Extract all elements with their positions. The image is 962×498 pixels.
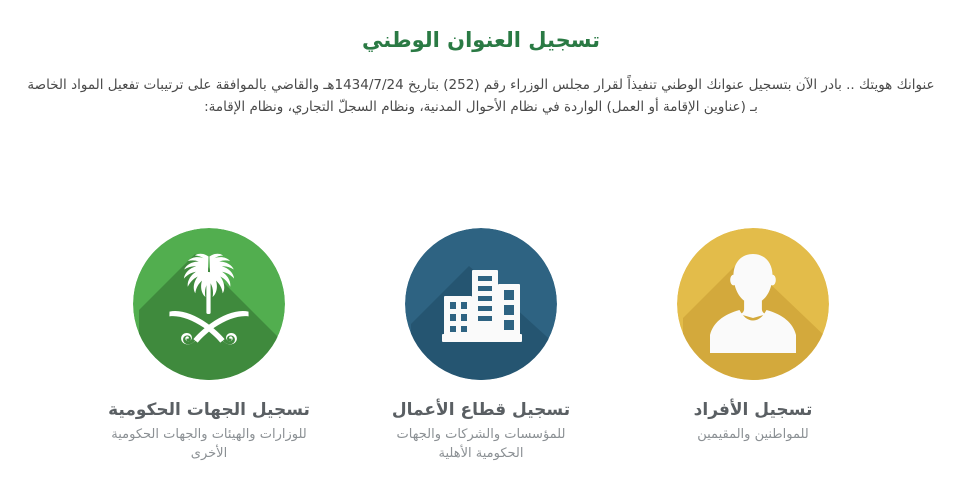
office-buildings-icon[interactable] xyxy=(405,228,557,380)
national-address-registration-page: تسجيل العنوان الوطني عنوانك هويتك .. باد… xyxy=(0,0,962,498)
registration-card-government[interactable]: تسجيل الجهات الحكومية للوزارات والهيئات … xyxy=(73,228,345,463)
registration-card-title: تسجيل قطاع الأعمال xyxy=(392,398,570,422)
intro-paragraph: عنوانك هويتك .. بادر الآن بتسجيل عنوانك … xyxy=(22,74,940,118)
saudi-emblem-palm-swords-icon[interactable] xyxy=(133,228,285,380)
person-avatar-icon[interactable] xyxy=(677,228,829,380)
registration-options-row: تسجيل الجهات الحكومية للوزارات والهيئات … xyxy=(0,228,962,463)
registration-card-title: تسجيل الأفراد xyxy=(694,398,813,422)
page-title: تسجيل العنوان الوطني xyxy=(0,26,962,54)
registration-card-business[interactable]: تسجيل قطاع الأعمال للمؤسسات والشركات وال… xyxy=(345,228,617,463)
registration-card-subtitle: للوزارات والهيئات والجهات الحكومية الأخر… xyxy=(104,425,314,463)
registration-card-subtitle: للمواطنين والمقيمين xyxy=(697,425,809,444)
registration-card-individuals[interactable]: تسجيل الأفراد للمواطنين والمقيمين xyxy=(617,228,889,444)
registration-card-subtitle: للمؤسسات والشركات والجهات الحكومية الأهل… xyxy=(376,425,586,463)
registration-card-title: تسجيل الجهات الحكومية xyxy=(108,398,310,422)
